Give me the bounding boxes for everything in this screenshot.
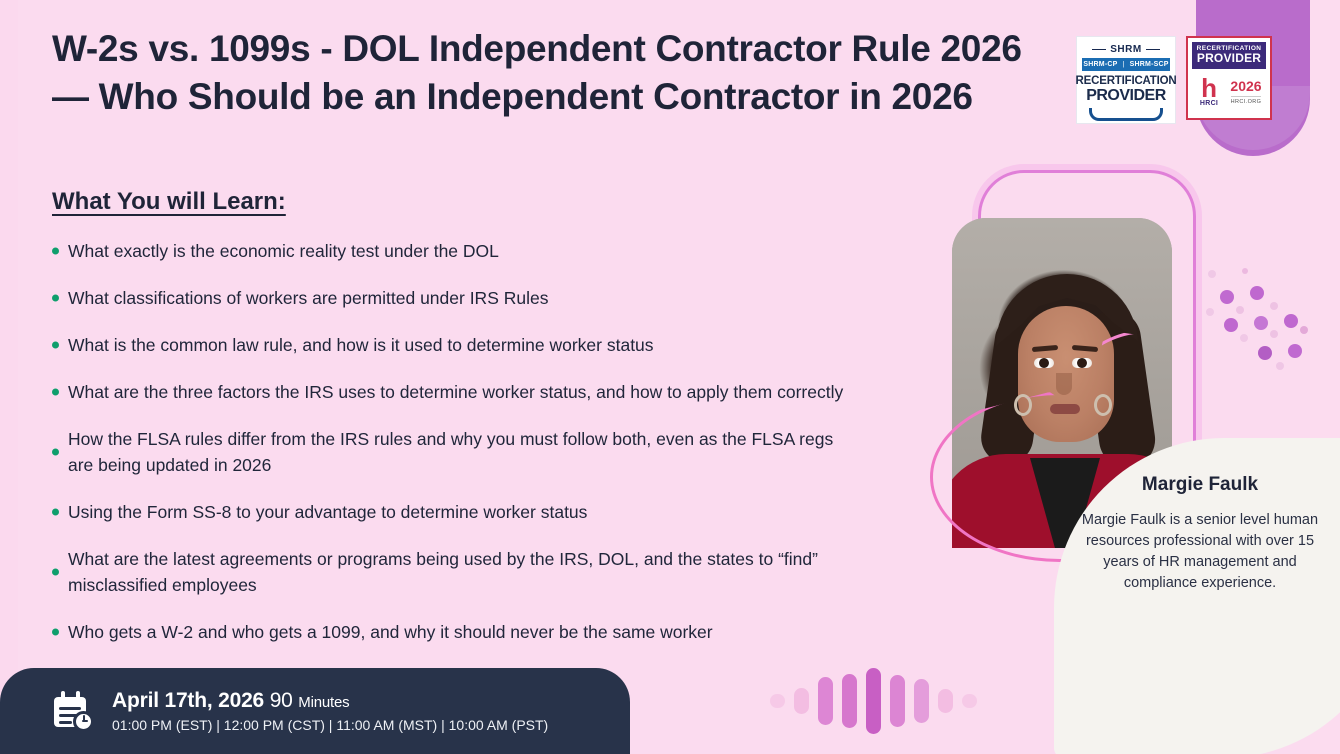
hrci-body: h HRCI 2026 HRCI.ORG	[1192, 69, 1266, 114]
decorative-dot	[1254, 316, 1268, 330]
waveform-bar	[938, 689, 953, 713]
schedule-text: April 17th, 2026 90 Minutes 01:00 PM (ES…	[112, 689, 548, 733]
waveform-bar	[794, 688, 809, 714]
learn-bullet-list: What exactly is the economic reality tes…	[52, 238, 852, 666]
shrm-provider-line: PROVIDER	[1086, 87, 1166, 104]
duration-unit: Minutes	[298, 694, 349, 711]
schedule-bar: April 17th, 2026 90 Minutes 01:00 PM (ES…	[0, 668, 630, 754]
waveform-bar	[914, 679, 929, 723]
decorative-dot	[1276, 362, 1284, 370]
waveform-bar	[770, 694, 785, 708]
decorative-dot	[1284, 314, 1298, 328]
list-item: What is the common law rule, and how is …	[52, 332, 852, 358]
dot-cluster-decoration	[1206, 268, 1316, 368]
decorative-dot	[1208, 270, 1216, 278]
schedule-timezones: 01:00 PM (EST) | 12:00 PM (CST) | 11:00 …	[112, 717, 548, 733]
left-edge-strip	[0, 0, 18, 754]
decorative-dot	[1300, 326, 1308, 334]
hrci-header: RECERTIFICATION PROVIDER	[1192, 42, 1266, 69]
waveform-bar	[842, 674, 857, 728]
waveform-bar	[866, 668, 881, 734]
calendar-line-1	[59, 707, 81, 710]
decorative-dot	[1270, 302, 1278, 310]
list-item: What are the three factors the IRS uses …	[52, 379, 852, 405]
list-item: Who gets a W-2 and who gets a 1099, and …	[52, 619, 852, 645]
hrci-org-label: HRCI	[1200, 100, 1218, 107]
shrm-recertification-badge: SHRM SHRM-CP | SHRM-SCP RECERTIFICATION …	[1076, 36, 1176, 124]
hrci-h-mark-icon: h	[1201, 76, 1217, 100]
shrm-recert-line: RECERTIFICATION	[1076, 75, 1177, 87]
speaker-card: Margie Faulk Margie Faulk is a senior le…	[1054, 438, 1340, 754]
waveform-bar	[818, 677, 833, 725]
schedule-date: April 17th, 2026	[112, 689, 264, 712]
rule-left-icon	[1092, 49, 1106, 50]
duration-value: 90	[270, 689, 293, 712]
shrm-org-label: SHRM	[1110, 44, 1141, 55]
list-item: Using the Form SS-8 to your advantage to…	[52, 499, 852, 525]
shrm-credentials-bar: SHRM-CP | SHRM-SCP	[1082, 58, 1170, 71]
shrm-banner-icon	[1089, 108, 1163, 121]
shrm-separator: |	[1122, 61, 1124, 68]
decorative-dot	[1288, 344, 1302, 358]
waveform-bar	[890, 675, 905, 727]
hrci-recertification-badge: RECERTIFICATION PROVIDER h HRCI 2026 HRC…	[1186, 36, 1272, 120]
schedule-date-row: April 17th, 2026 90 Minutes	[112, 689, 548, 713]
list-item: What exactly is the economic reality tes…	[52, 238, 852, 264]
shrm-scp-label: SHRM-SCP	[1130, 61, 1169, 68]
decorative-dot	[1258, 346, 1272, 360]
speaker-bio: Margie Faulk is a senior level human res…	[1080, 510, 1320, 594]
shrm-org-row: SHRM	[1092, 44, 1159, 55]
learn-heading: What You will Learn:	[52, 188, 286, 216]
list-item: How the FLSA rules differ from the IRS r…	[52, 426, 852, 478]
hrci-domain-label: HRCI.ORG	[1231, 96, 1262, 105]
decorative-dot	[1224, 318, 1238, 332]
decorative-dot	[1220, 290, 1234, 304]
eye-right	[1072, 358, 1092, 368]
webinar-poster: W-2s vs. 1099s - DOL Independent Contrac…	[0, 0, 1340, 754]
eye-left	[1034, 358, 1054, 368]
decorative-dot	[1242, 268, 1248, 274]
list-item: What are the latest agreements or progra…	[52, 546, 852, 598]
calendar-line-3	[59, 721, 72, 724]
hrci-year-label: 2026	[1230, 78, 1261, 94]
certification-badges: SHRM SHRM-CP | SHRM-SCP RECERTIFICATION …	[1076, 36, 1272, 124]
rule-right-icon	[1146, 49, 1160, 50]
decorative-dot	[1270, 330, 1278, 338]
decorative-dot	[1236, 306, 1244, 314]
waveform-bar	[962, 694, 977, 708]
list-item: What classifications of workers are perm…	[52, 285, 852, 311]
page-title: W-2s vs. 1099s - DOL Independent Contrac…	[52, 25, 1052, 121]
hrci-provider-line: PROVIDER	[1192, 52, 1266, 65]
hrci-year-block: 2026 HRCI.ORG	[1226, 69, 1266, 114]
audio-waveform-decoration	[770, 668, 980, 734]
decorative-dot	[1250, 286, 1264, 300]
clock-hand-minute	[82, 720, 88, 722]
shrm-cp-label: SHRM-CP	[1083, 61, 1117, 68]
speaker-name: Margie Faulk	[1080, 474, 1320, 496]
decorative-dot	[1240, 334, 1248, 342]
nose-shape	[1056, 373, 1072, 395]
decorative-dot	[1206, 308, 1214, 316]
calendar-clock-icon	[52, 690, 94, 732]
hrci-logo: h HRCI	[1192, 69, 1226, 114]
